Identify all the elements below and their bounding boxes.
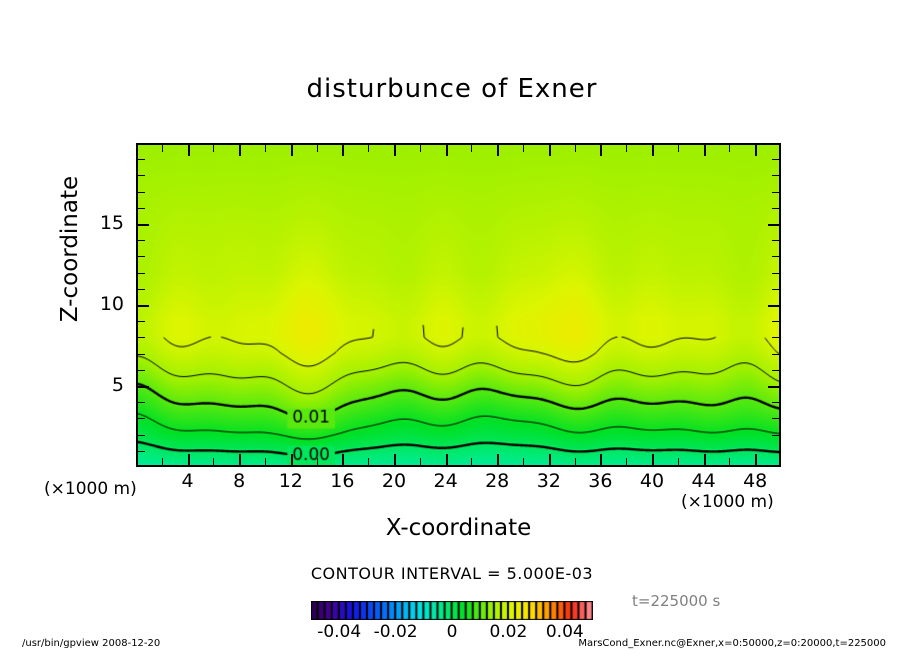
x-tick-bottom xyxy=(704,454,706,465)
x-tick-top xyxy=(265,145,266,152)
z-tick-right xyxy=(772,321,779,322)
x-tick-bottom xyxy=(368,458,369,465)
x-tick-bottom xyxy=(729,458,730,465)
z-tick-label: 5 xyxy=(76,374,124,396)
z-tick-left xyxy=(138,256,145,257)
z-tick-left xyxy=(138,273,145,274)
z-tick-right xyxy=(772,256,779,257)
x-tick-bottom xyxy=(626,458,627,465)
z-tick-right xyxy=(768,305,779,307)
z-tick-left xyxy=(138,175,145,176)
x-tick-top xyxy=(652,145,654,156)
x-tick-label: 48 xyxy=(731,470,779,492)
x-tick-bottom xyxy=(575,458,576,465)
x-tick-top xyxy=(523,145,524,152)
x-tick-top xyxy=(368,145,369,152)
z-tick-left xyxy=(138,386,149,388)
x-tick-bottom xyxy=(497,454,499,465)
z-tick-left xyxy=(138,402,145,403)
z-tick-left xyxy=(138,240,145,241)
x-tick-top xyxy=(575,145,576,152)
z-tick-left xyxy=(138,208,145,209)
y-axis-unit-label: (×1000 m) xyxy=(44,479,137,499)
x-tick-bottom xyxy=(265,458,266,465)
z-tick-left xyxy=(138,337,145,338)
x-axis-unit-label: (×1000 m) xyxy=(681,492,774,512)
z-tick-left xyxy=(138,159,145,160)
z-tick-right xyxy=(772,175,779,176)
z-tick-right xyxy=(772,354,779,355)
z-tick-right xyxy=(772,418,779,419)
x-tick-bottom xyxy=(523,458,524,465)
x-tick-bottom xyxy=(549,454,551,465)
x-tick-top xyxy=(729,145,730,152)
x-axis-title: X-coordinate xyxy=(136,515,781,541)
z-tick-left xyxy=(138,305,149,307)
x-tick-top xyxy=(162,145,163,152)
contour-interval-caption: CONTOUR INTERVAL = 5.000E-03 xyxy=(0,564,904,583)
x-tick-top xyxy=(704,145,706,156)
z-tick-left xyxy=(138,451,145,452)
z-tick-left xyxy=(138,321,145,322)
z-tick-left xyxy=(138,435,145,436)
x-tick-bottom xyxy=(446,454,448,465)
x-tick-top xyxy=(626,145,627,152)
x-tick-top xyxy=(497,145,499,156)
x-tick-label: 36 xyxy=(576,470,624,492)
z-tick-label: 15 xyxy=(76,212,124,234)
x-tick-label: 24 xyxy=(422,470,470,492)
x-tick-top xyxy=(678,145,679,152)
z-tick-right xyxy=(772,435,779,436)
x-tick-label: 44 xyxy=(680,470,728,492)
z-tick-right xyxy=(772,337,779,338)
z-tick-left xyxy=(138,370,145,371)
z-tick-right xyxy=(772,289,779,290)
z-tick-right xyxy=(772,451,779,452)
z-tick-left xyxy=(138,354,145,355)
contour-field-canvas xyxy=(138,145,779,465)
x-tick-top xyxy=(446,145,448,156)
x-tick-top xyxy=(213,145,214,152)
colorbar-canvas xyxy=(311,601,593,620)
x-tick-top xyxy=(317,145,318,152)
x-tick-top xyxy=(342,145,344,156)
x-tick-top xyxy=(188,145,190,156)
y-axis-title: Z-coordinate xyxy=(57,139,83,359)
x-tick-top xyxy=(291,145,293,156)
footer-command: /usr/bin/gpview 2008-12-20 xyxy=(22,638,160,649)
z-tick-right xyxy=(772,273,779,274)
x-tick-bottom xyxy=(394,454,396,465)
z-tick-right xyxy=(772,192,779,193)
x-tick-label: 40 xyxy=(628,470,676,492)
x-tick-bottom xyxy=(678,458,679,465)
z-tick-right xyxy=(772,159,779,160)
x-tick-label: 4 xyxy=(164,470,212,492)
z-tick-left xyxy=(138,224,149,226)
z-tick-right xyxy=(772,240,779,241)
x-tick-top xyxy=(600,145,602,156)
z-tick-right xyxy=(772,402,779,403)
x-tick-top xyxy=(394,145,396,156)
z-tick-right xyxy=(772,370,779,371)
x-tick-label: 16 xyxy=(318,470,366,492)
x-tick-top xyxy=(239,145,241,156)
z-tick-right xyxy=(768,386,779,388)
page-title: disturbunce of Exner xyxy=(0,74,904,104)
x-tick-bottom xyxy=(600,454,602,465)
x-tick-bottom xyxy=(162,458,163,465)
x-tick-top xyxy=(471,145,472,152)
x-tick-top xyxy=(420,145,421,152)
x-tick-bottom xyxy=(213,458,214,465)
colorbar xyxy=(311,601,593,620)
x-tick-top xyxy=(549,145,551,156)
z-tick-label: 10 xyxy=(76,293,124,315)
x-tick-top xyxy=(755,145,757,156)
x-tick-label: 32 xyxy=(525,470,573,492)
x-tick-bottom xyxy=(317,458,318,465)
x-tick-bottom xyxy=(420,458,421,465)
colorbar-tick-labels: -0.04-0.0200.020.04 xyxy=(281,622,623,644)
x-tick-bottom xyxy=(239,454,241,465)
x-tick-bottom xyxy=(755,454,757,465)
z-tick-left xyxy=(138,289,145,290)
x-tick-bottom xyxy=(342,454,344,465)
footer-dataset-info: MarsCond_Exner.nc@Exner,x=0:50000,z=0:20… xyxy=(578,638,886,649)
x-tick-bottom xyxy=(652,454,654,465)
contour-plot-area xyxy=(136,143,781,467)
z-tick-left xyxy=(138,418,145,419)
x-tick-label: 20 xyxy=(370,470,418,492)
x-tick-bottom xyxy=(291,454,293,465)
time-annotation: t=225000 s xyxy=(632,592,720,610)
x-tick-bottom xyxy=(188,454,190,465)
z-tick-left xyxy=(138,192,145,193)
x-tick-label: 12 xyxy=(267,470,315,492)
x-tick-label: 28 xyxy=(473,470,521,492)
z-tick-right xyxy=(772,208,779,209)
x-tick-label: 8 xyxy=(215,470,263,492)
z-tick-right xyxy=(768,224,779,226)
x-tick-bottom xyxy=(471,458,472,465)
